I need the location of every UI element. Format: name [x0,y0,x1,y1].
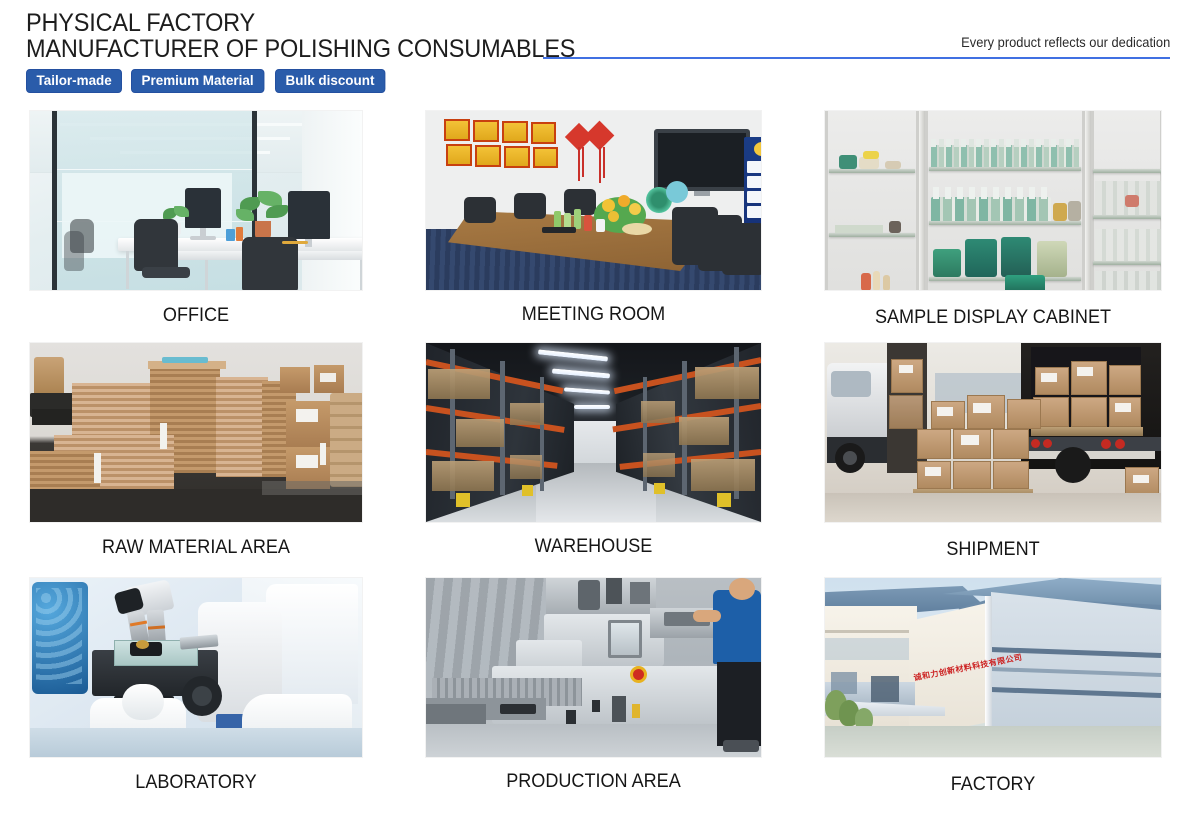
gallery-row-1: OFFICE [0,110,1200,342]
caption-laboratory: LABORATORY [37,758,354,794]
caption-sample-display-cabinet: SAMPLE DISPLAY CABINET [832,291,1153,329]
gallery-row-2: RAW MATERIAL AREA [0,342,1200,577]
badge-tailor-made[interactable]: Tailor-made [26,69,122,93]
title-line-2: MANUFACTURER OF POLISHING CONSUMABLES [26,36,575,62]
header-tagline: Every product reflects our dedication [961,34,1170,50]
header-divider-rule [543,57,1170,59]
gallery-item-raw-material-area[interactable]: RAW MATERIAL AREA [29,342,363,559]
sample-display-cabinet-photo [824,110,1162,291]
caption-warehouse: WAREHOUSE [433,523,753,558]
gallery-item-production-area[interactable]: PRODUCTION AREA [425,577,762,793]
gallery-item-meeting-room[interactable]: MEETING ROOM [425,110,762,326]
production-area-photo [425,577,762,758]
page-title: PHYSICAL FACTORY MANUFACTURER OF POLISHI… [26,10,610,62]
caption-factory: FACTORY [832,758,1153,796]
facility-gallery-grid: OFFICE [0,110,1200,809]
caption-production-area: PRODUCTION AREA [433,758,753,793]
gallery-item-warehouse[interactable]: WAREHOUSE [425,342,762,558]
page-root: PHYSICAL FACTORY MANUFACTURER OF POLISHI… [0,0,1200,840]
caption-shipment: SHIPMENT [832,523,1153,561]
gallery-item-laboratory[interactable]: LABORATORY [29,577,363,794]
caption-office: OFFICE [37,291,354,327]
page-header: PHYSICAL FACTORY MANUFACTURER OF POLISHI… [0,0,1200,110]
gallery-item-office[interactable]: OFFICE [29,110,363,327]
caption-meeting-room: MEETING ROOM [433,291,753,326]
meeting-room-photo [425,110,762,291]
gallery-item-shipment[interactable]: SHIPMENT [824,342,1162,561]
laboratory-photo [29,577,363,758]
factory-photo: 诚和力创新材料科技有限公司 [824,577,1162,758]
gallery-item-factory[interactable]: 诚和力创新材料科技有限公司 FACTORY [824,577,1162,796]
shipment-photo [824,342,1162,523]
gallery-item-sample-display-cabinet[interactable]: SAMPLE DISPLAY CABINET [824,110,1162,329]
warehouse-photo [425,342,762,523]
feature-badge-list: Tailor-made Premium Material Bulk discou… [26,69,390,93]
gallery-row-3: LABORATORY [0,577,1200,809]
office-photo [29,110,363,291]
raw-material-area-photo [29,342,363,523]
caption-raw-material-area: RAW MATERIAL AREA [37,523,354,559]
badge-premium-material[interactable]: Premium Material [131,69,264,93]
badge-bulk-discount[interactable]: Bulk discount [275,69,385,93]
title-line-1: PHYSICAL FACTORY [26,10,575,36]
